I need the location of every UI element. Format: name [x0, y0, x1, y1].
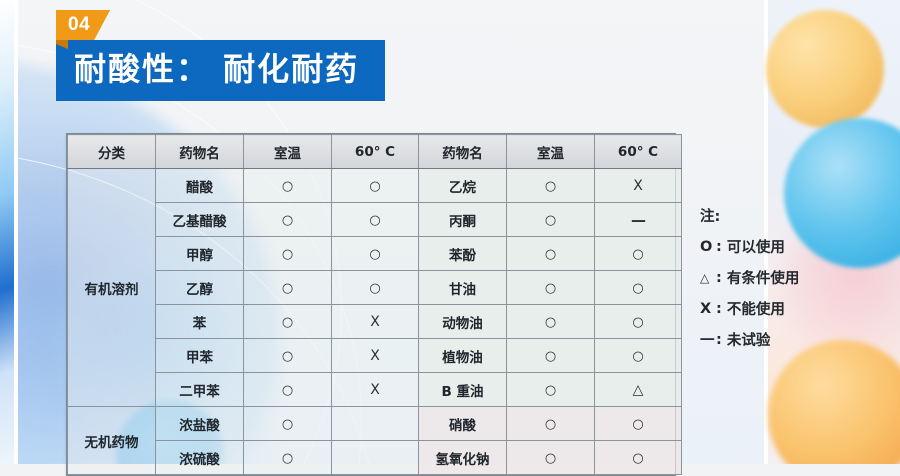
circle-icon: ○ — [545, 349, 556, 364]
table-row: 乙基醋酸○○丙酮○— — [68, 203, 682, 237]
circle-icon: ○ — [282, 247, 293, 262]
legend-dash-label: 未试验 — [727, 329, 771, 350]
circle-icon: ○ — [282, 315, 293, 330]
circle-icon: ○ — [632, 417, 643, 432]
header-drug-name-left: 药物名 — [156, 135, 244, 169]
table-row: 甲苯○X植物油○○ — [68, 339, 682, 373]
temp60-cell-right: ○ — [595, 305, 682, 339]
drug-name-cell-left: 乙醇 — [156, 271, 244, 305]
temp60-cell-left: ○ — [332, 237, 419, 271]
room-temp-cell-left: ○ — [244, 169, 332, 203]
triangle-icon: △ — [633, 382, 644, 398]
legend-circle-label: 可以使用 — [727, 236, 785, 257]
circle-icon: ○ — [632, 315, 643, 330]
temp60-cell-left: X — [332, 305, 419, 339]
title-block: 04 耐酸性： 耐化耐药 — [56, 10, 385, 101]
room-temp-cell-right: ○ — [507, 373, 595, 407]
category-cell: 有机溶剂 — [68, 169, 156, 407]
room-temp-cell-right: ○ — [507, 305, 595, 339]
temp60-cell-left: X — [332, 339, 419, 373]
legend: 注: O : 可以使用 △ : 有条件使用 X : 不能使用 一 : 未试验 — [700, 200, 799, 355]
circle-icon: ○ — [282, 213, 293, 228]
cross-icon: X — [370, 348, 380, 364]
room-temp-cell-left: ○ — [244, 305, 332, 339]
drug-name-cell-right: B 重油 — [419, 373, 507, 407]
circle-icon: ○ — [632, 247, 643, 262]
legend-note-label: 注: — [700, 200, 799, 231]
circle-icon: ○ — [545, 383, 556, 398]
table-row: 乙醇○○甘油○○ — [68, 271, 682, 305]
temp60-cell-right: ○ — [595, 237, 682, 271]
category-cell: 无机药物 — [68, 407, 156, 475]
drug-name-cell-left: 浓盐酸 — [156, 407, 244, 441]
legend-item-triangle: △ : 有条件使用 — [700, 262, 799, 293]
drug-name-cell-left: 甲苯 — [156, 339, 244, 373]
room-temp-cell-right: ○ — [507, 407, 595, 441]
circle-icon: ○ — [282, 179, 293, 194]
drug-name-cell-right: 动物油 — [419, 305, 507, 339]
temp60-cell-right: ○ — [595, 271, 682, 305]
drug-name-cell-right: 氢氧化钠 — [419, 441, 507, 475]
temp60-cell-right: — — [595, 203, 682, 237]
page-title-bar: 耐酸性： 耐化耐药 — [56, 40, 385, 101]
legend-circle-icon: O — [700, 239, 716, 255]
legend-item-dash: 一 : 未试验 — [700, 324, 799, 355]
drug-name-cell-right: 苯酚 — [419, 237, 507, 271]
background-left-panel — [0, 0, 14, 464]
orange-sphere-top-right — [766, 10, 884, 128]
room-temp-cell-left: ○ — [244, 339, 332, 373]
cross-icon: X — [370, 314, 380, 330]
room-temp-cell-right: ○ — [507, 237, 595, 271]
circle-icon: ○ — [282, 281, 293, 296]
circle-icon: ○ — [282, 349, 293, 364]
drug-name-cell-right: 植物油 — [419, 339, 507, 373]
table-row: 浓硫酸○氢氧化钠○○ — [68, 441, 682, 475]
table-row: 无机药物浓盐酸○硝酸○○ — [68, 407, 682, 441]
drug-name-cell-left: 苯 — [156, 305, 244, 339]
circle-icon: ○ — [545, 451, 556, 466]
panel-divider-left — [14, 0, 18, 464]
table-row: 苯○X动物油○○ — [68, 305, 682, 339]
legend-triangle-text: : — [716, 270, 727, 286]
legend-cross-icon: X — [700, 301, 716, 317]
section-badge: 04 — [56, 10, 385, 40]
circle-icon: ○ — [632, 281, 643, 296]
circle-icon: ○ — [369, 247, 380, 262]
table-header-row: 分类 药物名 室温 60° C 药物名 室温 60° C — [68, 135, 682, 169]
circle-icon: ○ — [545, 179, 556, 194]
legend-cross-text: : — [716, 301, 727, 317]
temp60-cell-left: ○ — [332, 271, 419, 305]
room-temp-cell-right: ○ — [507, 441, 595, 475]
legend-item-cross: X : 不能使用 — [700, 293, 799, 324]
legend-cross-label: 不能使用 — [727, 298, 785, 319]
room-temp-cell-left: ○ — [244, 373, 332, 407]
temp60-cell-left: X — [332, 373, 419, 407]
circle-icon: ○ — [545, 417, 556, 432]
drug-name-cell-left: 浓硫酸 — [156, 441, 244, 475]
circle-icon: ○ — [369, 281, 380, 296]
drug-name-cell-left: 甲醇 — [156, 237, 244, 271]
room-temp-cell-left: ○ — [244, 271, 332, 305]
legend-dash-text: : — [716, 332, 727, 348]
legend-circle-text: : — [716, 239, 727, 255]
temp60-cell-right: ○ — [595, 339, 682, 373]
drug-name-cell-right: 甘油 — [419, 271, 507, 305]
cross-icon: X — [370, 382, 380, 398]
drug-name-cell-left: 乙基醋酸 — [156, 203, 244, 237]
temp60-cell-right: X — [595, 169, 682, 203]
header-room-temp-left: 室温 — [244, 135, 332, 169]
header-60c-right: 60° C — [595, 135, 682, 169]
temp60-cell-left: ○ — [332, 169, 419, 203]
chemical-resistance-table: 分类 药物名 室温 60° C 药物名 室温 60° C 有机溶剂醋酸○○乙烷○… — [67, 134, 682, 475]
drug-name-cell-right: 硝酸 — [419, 407, 507, 441]
room-temp-cell-left: ○ — [244, 407, 332, 441]
circle-icon: ○ — [369, 179, 380, 194]
circle-icon: ○ — [545, 281, 556, 296]
legend-dash-icon: 一 — [700, 329, 716, 350]
circle-icon: ○ — [632, 451, 643, 466]
circle-icon: ○ — [282, 451, 293, 466]
legend-note-text: 注: — [700, 205, 720, 226]
legend-item-circle: O : 可以使用 — [700, 231, 799, 262]
room-temp-cell-right: ○ — [507, 339, 595, 373]
circle-icon: ○ — [282, 417, 293, 432]
circle-icon: ○ — [369, 213, 380, 228]
drug-name-cell-right: 乙烷 — [419, 169, 507, 203]
circle-icon: ○ — [632, 349, 643, 364]
drug-name-cell-right: 丙酮 — [419, 203, 507, 237]
temp60-cell-right: ○ — [595, 407, 682, 441]
temp60-cell-right: △ — [595, 373, 682, 407]
table-head: 分类 药物名 室温 60° C 药物名 室温 60° C — [68, 135, 682, 169]
legend-triangle-icon: △ — [700, 271, 716, 285]
drug-name-cell-left: 二甲苯 — [156, 373, 244, 407]
header-60c-left: 60° C — [332, 135, 419, 169]
header-category: 分类 — [68, 135, 156, 169]
room-temp-cell-right: ○ — [507, 203, 595, 237]
page-title: 耐酸性： 耐化耐药 — [74, 49, 359, 89]
legend-triangle-label: 有条件使用 — [727, 267, 800, 288]
cross-icon: X — [633, 178, 643, 194]
table-row: 甲醇○○苯酚○○ — [68, 237, 682, 271]
temp60-cell-left: ○ — [332, 203, 419, 237]
table-row: 二甲苯○XB 重油○△ — [68, 373, 682, 407]
circle-icon: ○ — [545, 315, 556, 330]
compatibility-table: 分类 药物名 室温 60° C 药物名 室温 60° C 有机溶剂醋酸○○乙烷○… — [66, 133, 676, 476]
room-temp-cell-left: ○ — [244, 237, 332, 271]
dash-icon: — — [631, 211, 645, 229]
circle-icon: ○ — [282, 383, 293, 398]
table-body: 有机溶剂醋酸○○乙烷○X乙基醋酸○○丙酮○—甲醇○○苯酚○○乙醇○○甘油○○苯○… — [68, 169, 682, 475]
drug-name-cell-left: 醋酸 — [156, 169, 244, 203]
temp60-cell-right: ○ — [595, 441, 682, 475]
temp60-cell-left — [332, 407, 419, 441]
room-temp-cell-left: ○ — [244, 203, 332, 237]
temp60-cell-left — [332, 441, 419, 475]
room-temp-cell-right: ○ — [507, 271, 595, 305]
circle-icon: ○ — [545, 213, 556, 228]
room-temp-cell-left: ○ — [244, 441, 332, 475]
header-drug-name-right: 药物名 — [419, 135, 507, 169]
table-row: 有机溶剂醋酸○○乙烷○X — [68, 169, 682, 203]
section-number: 04 — [56, 10, 110, 40]
circle-icon: ○ — [545, 247, 556, 262]
room-temp-cell-right: ○ — [507, 169, 595, 203]
header-room-temp-right: 室温 — [507, 135, 595, 169]
